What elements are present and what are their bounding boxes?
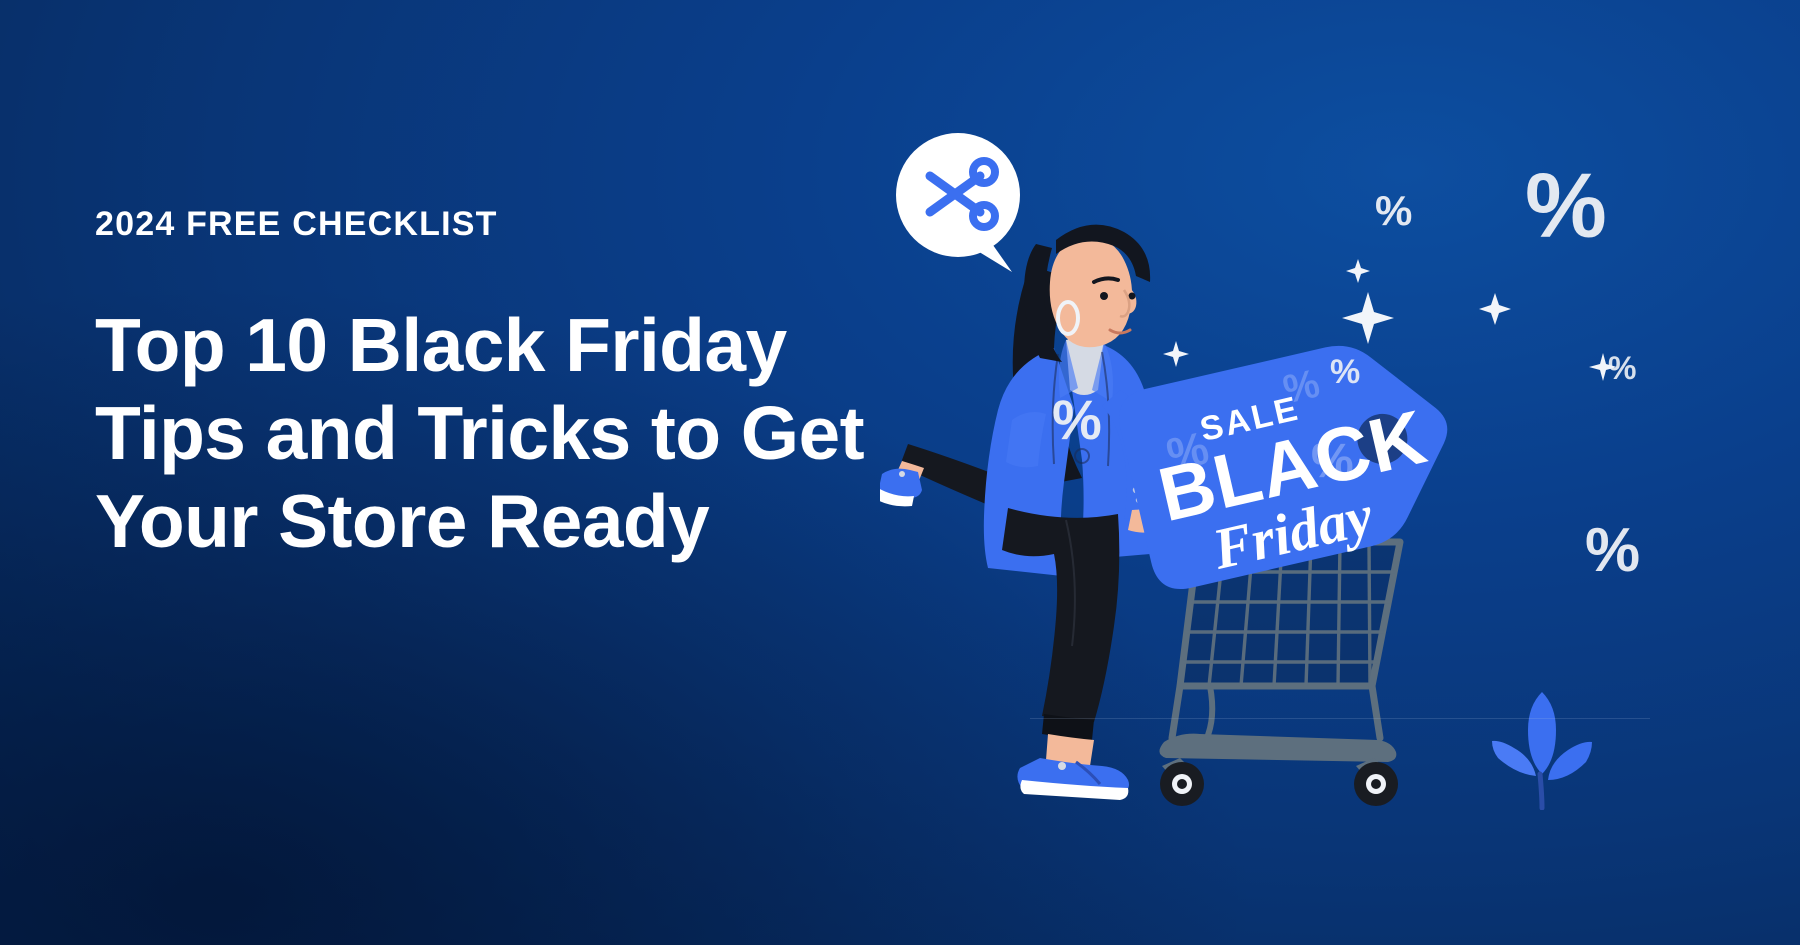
percent-symbol-4: % (1330, 355, 1360, 389)
character-front-shoe (1017, 734, 1129, 800)
headline-line-3: Your Store Ready (95, 478, 855, 566)
sparkle-5 (1162, 340, 1190, 373)
percent-symbol-7: % (1311, 438, 1354, 486)
eyebrow-label: 2024 FREE CHECKLIST (95, 205, 855, 244)
cart-wheel-right (1354, 758, 1398, 806)
headline-text-block: 2024 FREE CHECKLIST Top 10 Black Friday … (95, 205, 855, 565)
character-trousers (1002, 508, 1119, 740)
cart-wheel-left (1160, 758, 1204, 806)
sparkle-2 (1345, 258, 1371, 289)
sparkle-4 (1588, 352, 1618, 387)
percent-symbol-1: % (1052, 392, 1102, 448)
black-friday-promo-banner: 2024 FREE CHECKLIST Top 10 Black Friday … (0, 0, 1800, 945)
speech-bubble (896, 133, 1020, 272)
headline-line-2: Tips and Tricks to Get (95, 390, 855, 478)
percent-symbol-2: % (1375, 190, 1412, 232)
sparkle-1 (1340, 290, 1396, 351)
percent-symbol-3: % (1525, 160, 1607, 252)
character-head (1024, 225, 1150, 362)
percent-symbol-6: % (1585, 520, 1640, 582)
sparkle-3 (1478, 292, 1512, 331)
ground-line (1030, 718, 1650, 719)
sprout-icon (1492, 692, 1592, 808)
headline-line-1: Top 10 Black Friday (95, 302, 855, 390)
page-title: Top 10 Black Friday Tips and Tricks to G… (95, 302, 855, 565)
